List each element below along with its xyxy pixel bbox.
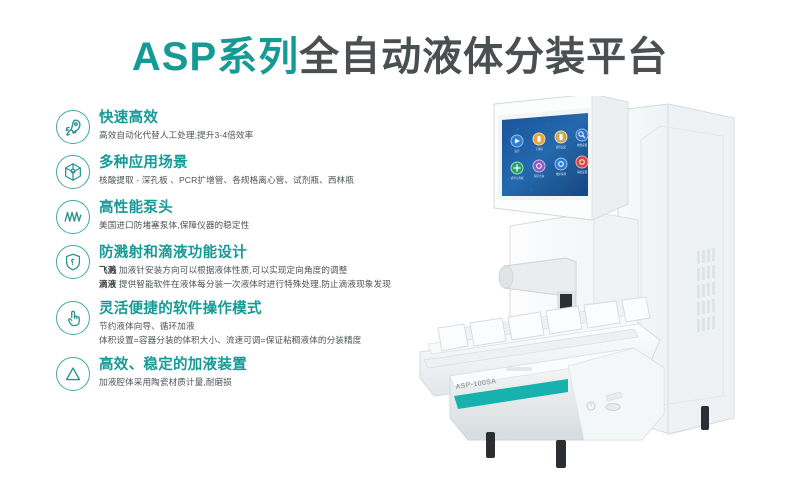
svg-text:试剂与消耗: 试剂与消耗 — [511, 176, 524, 180]
screen-icon-program-plan: 程序方案 — [533, 160, 545, 178]
shield-icon — [56, 245, 90, 279]
waveform-icon — [56, 200, 90, 234]
machine-foot — [701, 406, 709, 430]
svg-text:运行: 运行 — [514, 149, 520, 153]
feature-description: 核酸提取 - 深孔板 、PCR扩增管、各规格离心管、试剂瓶、西林瓶 — [99, 174, 354, 187]
screen-icon-level-setting: 液位设定 — [555, 131, 567, 149]
feature-description-line: 节约液体向导、循环加液 — [99, 320, 361, 333]
triangle-icon — [56, 357, 90, 391]
feature-description-line: 加液腔体采用陶瓷材质计量,耐磨损 — [99, 376, 247, 389]
waste-port — [606, 403, 620, 410]
feature-description: 加液腔体采用陶瓷材质计量,耐磨损 — [99, 376, 247, 389]
feature-description-text: 加液针安装方向可以根据液体性质,可以实现定向角度的调整 — [119, 265, 348, 275]
feature-list: 快速高效 高效自动化代替人工处理;提升3-4倍效率 多种应用场景 核酸提取 - … — [56, 108, 406, 391]
machine-foot — [486, 432, 495, 458]
screen-icon-system-setting: 系统设置 — [576, 156, 588, 174]
product-image: 运行 下位机 液位设定 — [398, 96, 800, 493]
feature-item: 多种应用场景 核酸提取 - 深孔板 、PCR扩增管、各规格离心管、试剂瓶、西林瓶 — [56, 153, 406, 189]
feature-description-line: 美国进口防堵塞泵体,保障仪器的稳定性 — [99, 219, 249, 232]
feature-title: 防溅射和滴液功能设计 — [99, 244, 391, 262]
svg-text:参数设置: 参数设置 — [577, 143, 588, 147]
feature-description-line: 高效自动化代替人工处理;提升3-4倍效率 — [99, 129, 253, 142]
touchscreen-display — [502, 113, 588, 196]
feature-description-line: 核酸提取 - 深孔板 、PCR扩增管、各规格离心管、试剂瓶、西林瓶 — [99, 174, 354, 187]
product-banner: ASP系列全自动液体分装平台 快速高效 高效自动化代替人工处理;提升3-4倍效率 — [0, 0, 800, 493]
feature-description-lead: 飞溅 — [99, 265, 116, 275]
page-title: ASP系列全自动液体分装平台 — [0, 32, 800, 82]
feature-item: 高性能泵头 美国进口防堵塞泵体,保障仪器的稳定性 — [56, 198, 406, 234]
feature-item: 灵活便捷的软件操作模式 节约液体向导、循环加液 体积设置=容器分装的体积大小、流… — [56, 299, 406, 346]
feature-item: 防溅射和滴液功能设计 飞溅 加液针安装方向可以根据液体性质,可以实现定向角度的调… — [56, 243, 406, 290]
feature-description: 节约液体向导、循环加液 体积设置=容器分装的体积大小、流速可调=保证粘稠液体的分… — [99, 320, 361, 346]
feature-description: 美国进口防堵塞泵体,保障仪器的稳定性 — [99, 219, 249, 232]
touchscreen-head: 运行 下位机 液位设定 — [494, 96, 628, 220]
rocket-icon — [56, 110, 90, 144]
machine-foot — [556, 440, 566, 468]
feature-description: 飞溅 加液针安装方向可以根据液体性质,可以实现定向角度的调整 滴液 提供智能软件… — [99, 264, 391, 290]
screen-icon-parameter-setting: 参数设置 — [576, 129, 588, 147]
svg-text:维护保养: 维护保养 — [556, 172, 567, 176]
feature-description-text: 提供智能软件在液体每分装一次液体时进行特殊处理,防止滴液现象发现 — [119, 279, 391, 289]
svg-text:程序方案: 程序方案 — [534, 174, 545, 178]
feature-description-line: 体积设置=容器分装的体积大小、流速可调=保证粘稠液体的分装精度 — [99, 334, 361, 347]
feature-title: 高性能泵头 — [99, 199, 249, 217]
base-slot — [506, 367, 532, 371]
feature-title: 快速高效 — [99, 109, 253, 127]
feature-item: 快速高效 高效自动化代替人工处理;提升3-4倍效率 — [56, 108, 406, 144]
feature-item: 高效、稳定的加液装置 加液腔体采用陶瓷材质计量,耐磨损 — [56, 355, 406, 391]
page-title-brand: ASP系列 — [132, 35, 299, 79]
svg-text:系统设置: 系统设置 — [577, 170, 588, 174]
page-title-rest: 全自动液体分装平台 — [299, 35, 668, 79]
screen-icon-reagent-consumable: 试剂与消耗 — [511, 162, 524, 180]
feature-description-line: 滴液 提供智能软件在液体每分装一次液体时进行特殊处理,防止滴液现象发现 — [99, 278, 391, 291]
cube-icon — [56, 155, 90, 189]
feature-title: 灵活便捷的软件操作模式 — [99, 300, 361, 318]
tap-hand-icon — [56, 301, 90, 335]
feature-description-line: 飞溅 加液针安装方向可以根据液体性质,可以实现定向角度的调整 — [99, 264, 391, 277]
svg-text:下位机: 下位机 — [535, 147, 543, 151]
feature-description: 高效自动化代替人工处理;提升3-4倍效率 — [99, 129, 253, 142]
feature-title: 高效、稳定的加液装置 — [99, 356, 247, 374]
feature-description-lead: 滴液 — [99, 279, 116, 289]
feature-title: 多种应用场景 — [99, 154, 354, 172]
screen-icon-maintenance: 维护保养 — [555, 158, 567, 176]
svg-text:液位设定: 液位设定 — [556, 145, 567, 149]
